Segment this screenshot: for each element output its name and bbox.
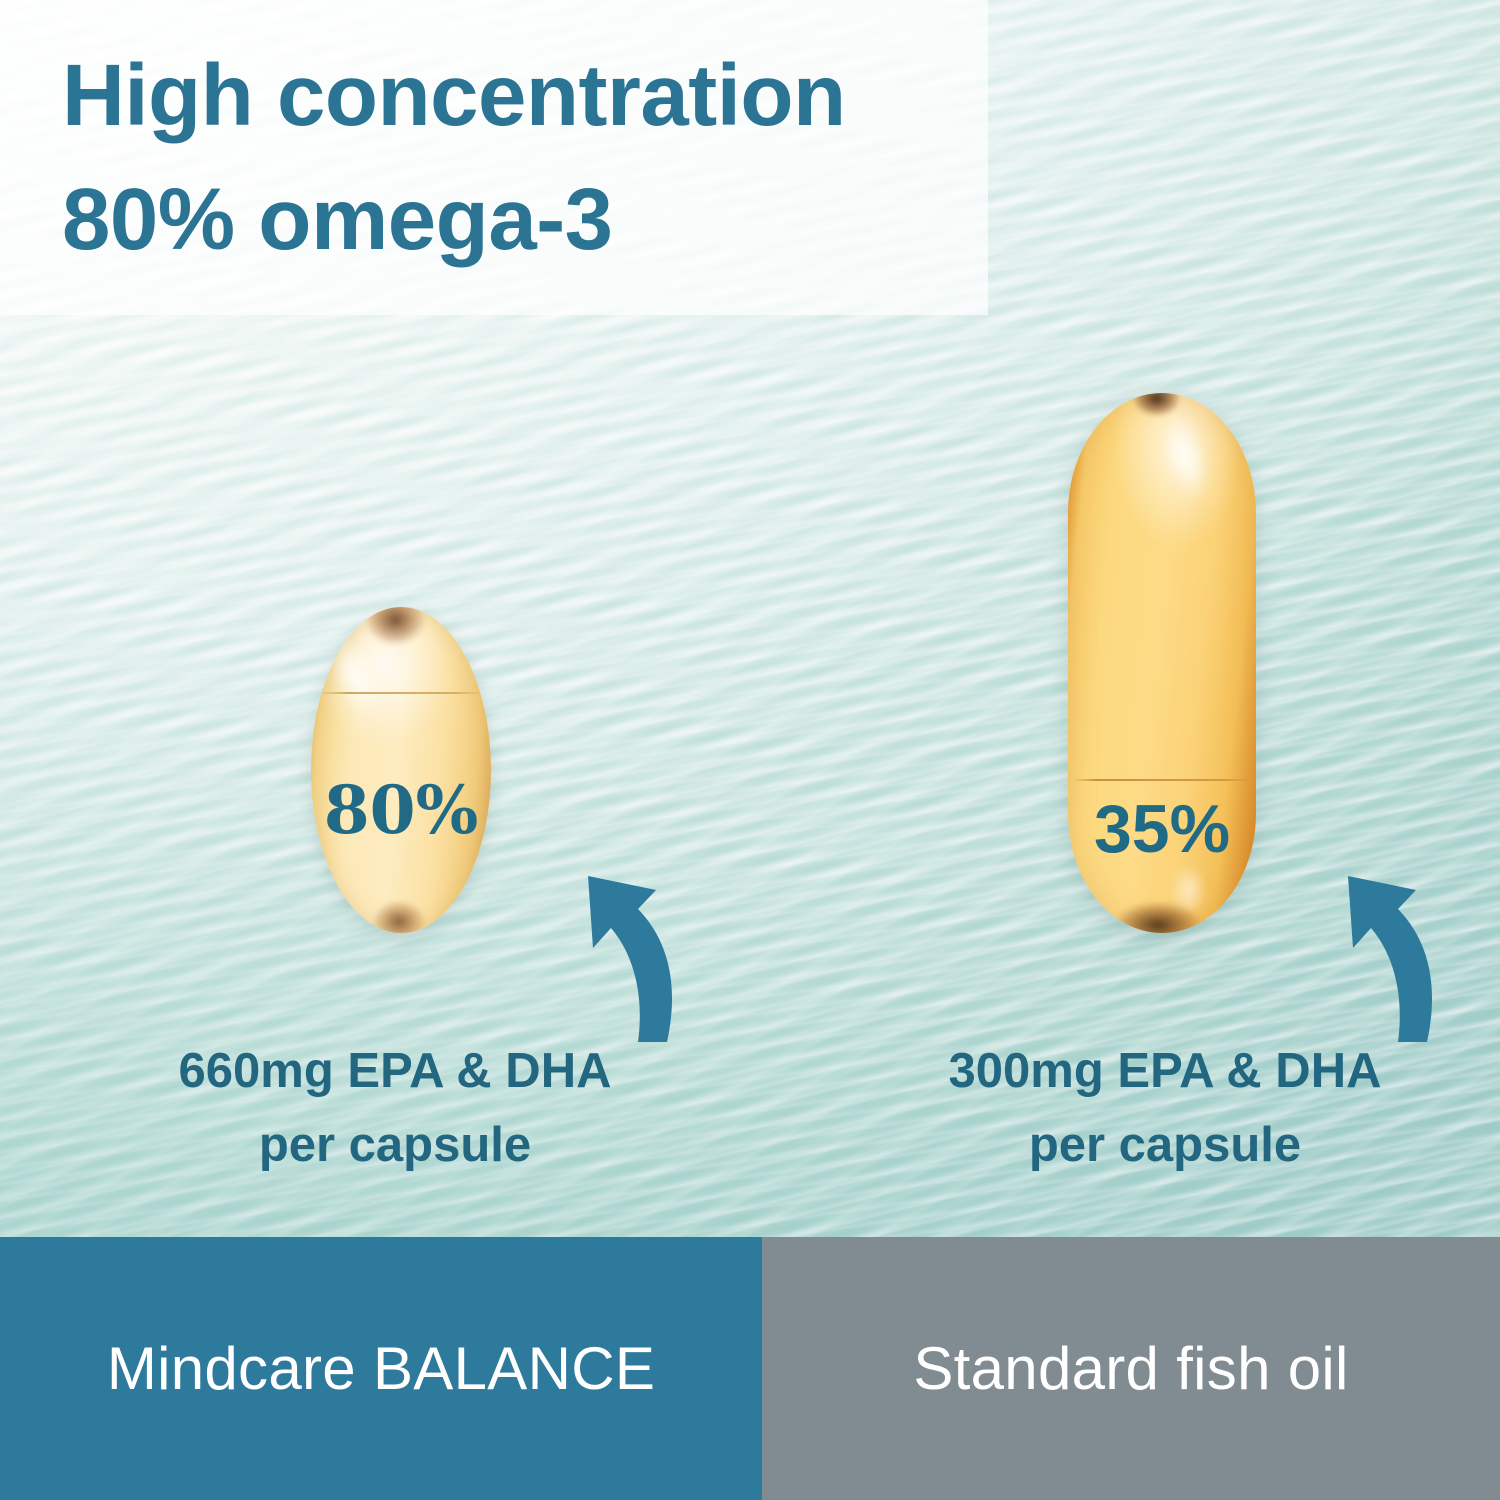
brand-bar-label: Mindcare BALANCE	[107, 1334, 655, 1403]
headline-line-1: High concentration	[62, 34, 972, 158]
curved-arrow-up-left-icon	[1312, 852, 1442, 1042]
brand-caption-line-2: per capsule	[90, 1108, 700, 1182]
brand-label-bar: Mindcare BALANCE	[0, 1237, 762, 1500]
capsule-top-blemish	[365, 607, 426, 646]
brand-capsule: 80%	[311, 607, 491, 933]
curved-arrow-up-left-icon	[552, 852, 682, 1042]
capsule-seam-line	[318, 692, 484, 694]
capsule-top-blemish	[1132, 393, 1181, 417]
page-title: High concentration 80% omega-3	[62, 34, 972, 283]
brand-caption-line-1: 660mg EPA & DHA	[90, 1034, 700, 1108]
standard-capsule-percent-label: 35%	[1068, 795, 1256, 863]
standard-caption: 300mg EPA & DHA per capsule	[860, 1034, 1470, 1183]
standard-label-bar: Standard fish oil	[762, 1237, 1500, 1500]
headline-line-2: 80% omega-3	[62, 158, 972, 282]
standard-caption-line-1: 300mg EPA & DHA	[860, 1034, 1470, 1108]
standard-caption-line-2: per capsule	[860, 1108, 1470, 1182]
capsule-seam-line	[1072, 779, 1253, 781]
headline-panel: High concentration 80% omega-3	[0, 0, 988, 315]
brand-capsule-percent-label: 80%	[311, 777, 491, 843]
capsule-bottom-blemish	[372, 900, 426, 933]
brand-caption: 660mg EPA & DHA per capsule	[90, 1034, 700, 1183]
standard-capsule: 35%	[1068, 393, 1256, 933]
product-comparison-infographic: High concentration 80% omega-3 80% 35% 6…	[0, 0, 1500, 1500]
standard-bar-label: Standard fish oil	[913, 1334, 1348, 1403]
capsule-highlight	[1156, 411, 1217, 505]
